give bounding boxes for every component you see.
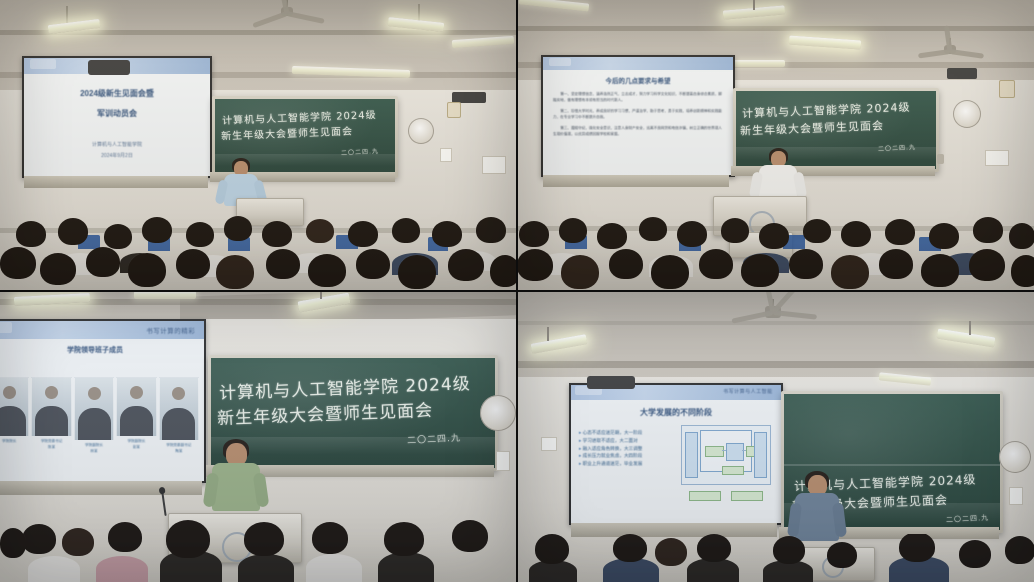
- wall-fan-icon: [408, 118, 434, 144]
- slide-title-page: 2024级新生见面会暨 军训动员会 计算机与人工智能学院 2024年9月2日: [24, 58, 210, 176]
- leadership-headshot-row: 学院院长 学院党委书记 陈某 学院副院长 林某: [0, 377, 198, 463]
- collage-panel-top-right: 今后的几点要求与希望 第一、坚定理想信念，涵养浩然正气，立志成才，努力学习科学文…: [517, 0, 1034, 291]
- ceiling-fan-icon: [915, 38, 985, 62]
- slide-subtitle-line1: 计算机与人工智能学院: [24, 141, 210, 148]
- slide-diagram-footnote: [731, 491, 763, 501]
- wall-emblem: [447, 102, 461, 118]
- wall-notice: [440, 148, 452, 162]
- slide-bullet: 融入适应角色转换，大三调整: [579, 445, 680, 453]
- wall-notice: [985, 150, 1009, 166]
- audience: [517, 207, 1034, 291]
- slide-university-stages: 书写计算与人工智能 大学发展的不同阶段 心态不适应迷茫期，大一阶段 学习进取不适…: [571, 385, 781, 523]
- member-role: 学院院长: [2, 439, 16, 443]
- slide-title: 大学发展的不同阶段: [571, 407, 781, 418]
- slide-bullet: 心态不适应迷茫期，大一阶段: [579, 429, 680, 437]
- slide-title: 今后的几点要求与希望: [553, 75, 723, 85]
- slide-bullet: 职业上升通道迷茫，毕业发展: [579, 460, 680, 468]
- member-name: 陈某: [48, 445, 55, 449]
- slide-title-line1: 2024级新生见面会暨: [24, 88, 210, 99]
- audience: [517, 534, 1034, 582]
- member-role: 学院党委副书记: [166, 443, 191, 447]
- ceiling-light: [134, 291, 196, 299]
- leadership-member: 学院副院长 林某: [75, 377, 113, 463]
- slide-requirements: 今后的几点要求与希望 第一、坚定理想信念，涵养浩然正气，立志成才，努力学习科学文…: [543, 57, 733, 175]
- wall-switch: [937, 154, 944, 164]
- projector-screen: 书写计算的精彩 学院领导班子成员 学院院长 学院党委书记: [0, 319, 206, 483]
- slide-paragraph: 第一、坚定理想信念，涵养浩然正气，立志成才，努力学习科学文化知识，不断提高自身综…: [553, 92, 723, 103]
- wall-fan-icon: [953, 100, 981, 128]
- leadership-member: 学院院长: [0, 377, 28, 463]
- collage-panel-bottom-right: 书写计算与人工智能 大学发展的不同阶段 心态不适应迷茫期，大一阶段 学习进取不适…: [517, 291, 1034, 582]
- slide-paragraph: 第三、遵规守纪，强化安全意识，注意人身财产安全，远离不良网贷和电信诈骗，树立正确…: [553, 126, 723, 137]
- wall-notice: [541, 437, 557, 451]
- member-role: 学院副院长: [85, 443, 103, 447]
- collage-seam-horizontal: [0, 290, 1034, 292]
- slide-paragraph: 第二、珍惜大学时光，养成良好的学习习惯，严谨治学，勤于思考，勇于实践，培养创新精…: [553, 109, 723, 120]
- wall-notice: [1009, 487, 1023, 505]
- slide-leadership: 书写计算的精彩 学院领导班子成员 学院院长 学院党委书记: [0, 321, 204, 481]
- ceiling-fan-icon: [729, 299, 817, 331]
- projector-screen: 今后的几点要求与希望 第一、坚定理想信念，涵养浩然正气，立志成才，努力学习科学文…: [541, 55, 735, 177]
- wall-notice: [482, 156, 506, 174]
- audience: [0, 518, 517, 582]
- leadership-member: 学院党委副书记 陶某: [160, 377, 198, 463]
- wall-fan-icon: [999, 441, 1031, 473]
- audience: [0, 205, 517, 291]
- slide-band-text: 书写计算的精彩: [146, 325, 195, 335]
- wall-fan-icon: [480, 395, 516, 431]
- ceiling-fan-icon: [252, 0, 322, 26]
- slide-bullet: 成长压力就业焦虑，大四阶段: [579, 452, 680, 460]
- photo-collage: 2024级新生见面会暨 军训动员会 计算机与人工智能学院 2024年9月2日 计…: [0, 0, 1034, 582]
- slide-title-line2: 军训动员会: [24, 108, 210, 119]
- projector-screen: 书写计算与人工智能 大学发展的不同阶段 心态不适应迷茫期，大一阶段 学习进取不适…: [569, 383, 783, 525]
- speaker-person: [206, 439, 266, 513]
- slide-band-text: 书写计算与人工智能: [723, 388, 773, 395]
- collage-panel-top-left: 2024级新生见面会暨 军训动员会 计算机与人工智能学院 2024年9月2日 计…: [0, 0, 517, 291]
- member-role: 学院党委书记: [41, 439, 63, 443]
- slide-bullet: 学习进取不适应，大二面对: [579, 437, 680, 445]
- slide-subtitle-line2: 2024年9月2日: [24, 152, 210, 159]
- member-name: 彭某: [133, 445, 140, 449]
- wall-emblem: [999, 80, 1015, 98]
- blackboard-line-1: 计算机与人工智能学院 2024级: [742, 99, 911, 121]
- member-name: 陶某: [175, 449, 182, 453]
- member-role: 学院副院长: [127, 439, 145, 443]
- collage-panel-bottom-left: 书写计算的精彩 学院领导班子成员 学院院长 学院党委书记: [0, 291, 517, 582]
- slide-title: 学院领导班子成员: [0, 345, 204, 355]
- slide-diagram-footnote: [689, 491, 721, 501]
- wall-notice: [496, 451, 510, 471]
- slide-diagram: [681, 425, 771, 485]
- projector-device: [587, 376, 635, 389]
- leadership-member: 学院副院长 彭某: [117, 377, 155, 463]
- projector-device: [88, 60, 130, 75]
- member-name: 林某: [90, 449, 97, 453]
- wall-speaker-box: [947, 68, 977, 79]
- leadership-member: 学院党委书记 陈某: [32, 377, 70, 463]
